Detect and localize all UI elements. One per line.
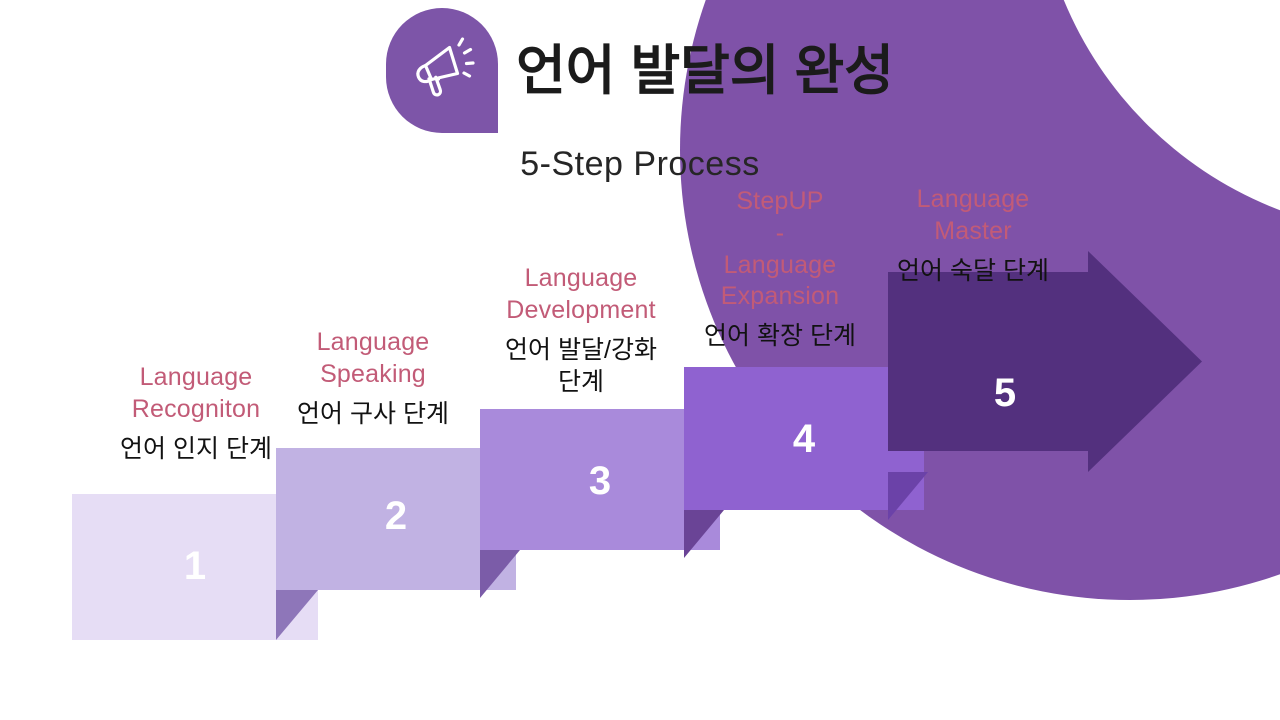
step-5-fold-shadow [888, 472, 928, 520]
step-4-title-en: StepUP - Language Expansion [676, 186, 884, 313]
step-4-fold-shadow [684, 510, 724, 558]
megaphone-icon [386, 8, 498, 133]
step-1-title-ko: 언어 인지 단계 [52, 433, 340, 466]
slide-header: 언어 발달의 완성 5-Step Process [0, 8, 1280, 184]
step-1-number: 1 [132, 546, 258, 586]
step-2-fold-shadow [276, 590, 318, 640]
step-2-title-en: Language Speaking [258, 327, 488, 391]
step-label-3: Language Development 언어 발달/강화 단계 [468, 263, 694, 399]
step-5-title-en: Language Master [878, 184, 1068, 248]
page-subtitle: 5-Step Process [0, 145, 1280, 184]
step-3-title-ko: 언어 발달/강화 단계 [468, 334, 694, 399]
page-title: 언어 발달의 완성 [516, 44, 894, 98]
step-4-number: 4 [744, 419, 864, 459]
step-label-2: Language Speaking 언어 구사 단계 [258, 327, 488, 430]
step-label-4: StepUP - Language Expansion 언어 확장 단계 [676, 186, 884, 353]
slide-canvas: 언어 발달의 완성 5-Step Process 1 2 3 4 [0, 0, 1280, 720]
step-3-number: 3 [540, 461, 660, 501]
step-4-title-ko: 언어 확장 단계 [676, 320, 884, 353]
step-5-number: 5 [988, 373, 1022, 413]
step-5-title-ko: 언어 숙달 단계 [878, 255, 1068, 288]
title-row: 언어 발달의 완성 [386, 8, 894, 133]
step-label-5: Language Master 언어 숙달 단계 [878, 184, 1068, 287]
step-2-title-ko: 언어 구사 단계 [258, 398, 488, 431]
step-2-number: 2 [336, 496, 456, 536]
step-3-fold-shadow [480, 550, 520, 598]
step-3-title-en: Language Development [468, 263, 694, 327]
